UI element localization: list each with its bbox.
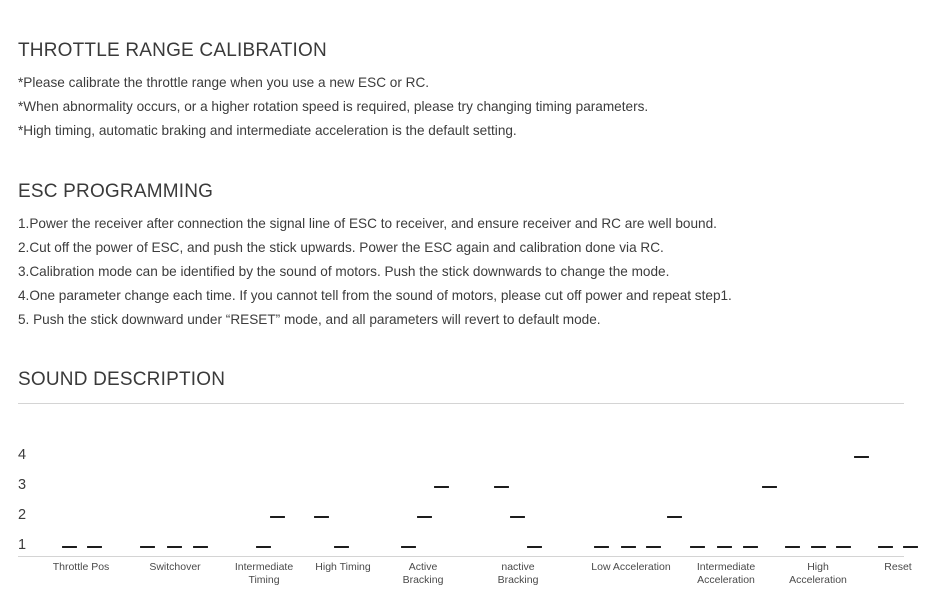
chart-bottom-divider [18, 556, 904, 557]
beep-mark [811, 546, 826, 548]
beep-mark [417, 516, 432, 518]
page-title-throttle: THROTTLE RANGE CALIBRATION [18, 40, 648, 62]
beep-mark [193, 546, 208, 548]
throttle-line-3: *High timing, automatic braking and inte… [18, 119, 648, 143]
section-throttle-range-calibration: THROTTLE RANGE CALIBRATION *Please calib… [18, 40, 648, 143]
throttle-line-2: *When abnormality occurs, or a higher ro… [18, 95, 648, 119]
esc-step-3: 3.Calibration mode can be identified by … [18, 260, 732, 284]
beep-mark [167, 546, 182, 548]
beep-mark [510, 516, 525, 518]
esc-step-4: 4.One parameter change each time. If you… [18, 284, 732, 308]
page-title-sound: SOUND DESCRIPTION [18, 369, 904, 391]
beep-mark [270, 516, 285, 518]
esc-steps: 1.Power the receiver after connection th… [18, 212, 732, 332]
beep-mark [717, 546, 732, 548]
beep-mark [743, 546, 758, 548]
x-axis-label-8: High Acceleration [789, 561, 847, 586]
y-axis-tick-3: 3 [18, 478, 34, 492]
page-title-esc: ESC PROGRAMMING [18, 181, 732, 203]
x-axis-label-3: High Timing [315, 561, 370, 574]
throttle-lines: *Please calibrate the throttle range whe… [18, 71, 648, 143]
beep-mark [140, 546, 155, 548]
document-page: THROTTLE RANGE CALIBRATION *Please calib… [18, 0, 922, 566]
beep-mark [527, 546, 542, 548]
x-axis-label-0: Throttle Pos [53, 561, 110, 574]
beep-mark [256, 546, 271, 548]
x-axis-label-4: Active Bracking [403, 561, 444, 586]
beep-mark [314, 516, 329, 518]
esc-step-1: 1.Power the receiver after connection th… [18, 212, 732, 236]
x-axis-label-2: Intermediate Timing [235, 561, 293, 586]
chart-plot-area: 4321 [18, 403, 904, 556]
beep-mark [334, 546, 349, 548]
beep-mark [87, 546, 102, 548]
x-axis-label-7: Intermediate Acceleration [697, 561, 755, 586]
beep-mark [434, 486, 449, 488]
y-axis-tick-2: 2 [18, 508, 34, 522]
beep-mark [836, 546, 851, 548]
beep-mark [667, 516, 682, 518]
beep-mark [854, 456, 869, 458]
beep-mark [594, 546, 609, 548]
beep-mark [621, 546, 636, 548]
beep-mark [762, 486, 777, 488]
esc-step-2: 2.Cut off the power of ESC, and push the… [18, 236, 732, 260]
y-axis-tick-4: 4 [18, 448, 34, 462]
esc-step-5: 5. Push the stick downward under “RESET”… [18, 308, 732, 332]
section-sound-description: SOUND DESCRIPTION 4321 Throttle PosSwitc… [18, 369, 904, 558]
x-axis-label-5: nactive Bracking [498, 561, 539, 586]
beep-mark [878, 546, 893, 548]
sound-description-chart: 4321 Throttle PosSwitchoverIntermediate … [18, 403, 904, 558]
section-esc-programming: ESC PROGRAMMING 1.Power the receiver aft… [18, 181, 732, 332]
throttle-line-1: *Please calibrate the throttle range whe… [18, 71, 648, 95]
beep-mark [646, 546, 661, 548]
y-axis-tick-1: 1 [18, 538, 34, 552]
beep-mark [785, 546, 800, 548]
beep-mark [62, 546, 77, 548]
beep-mark [401, 546, 416, 548]
beep-mark [690, 546, 705, 548]
x-axis-label-6: Low Acceleration [591, 561, 670, 574]
beep-mark [903, 546, 918, 548]
x-axis-label-9: Reset [884, 561, 911, 574]
beep-mark [494, 486, 509, 488]
x-axis-label-1: Switchover [149, 561, 200, 574]
